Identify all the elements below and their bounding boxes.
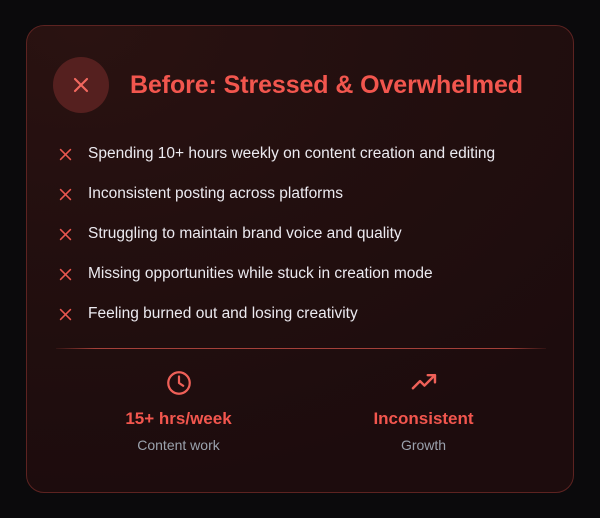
clock-icon: [165, 369, 193, 397]
stat-growth: Inconsistent Growth: [301, 369, 546, 452]
stat-value: 15+ hrs/week: [125, 410, 231, 427]
trending-up-icon: [410, 369, 438, 397]
x-mark-icon: [57, 306, 74, 323]
list-item-label: Missing opportunities while stuck in cre…: [88, 266, 433, 282]
stat-value: Inconsistent: [373, 410, 473, 427]
list-item: Inconsistent posting across platforms: [57, 174, 549, 214]
page-title: Before: Stressed & Overwhelmed: [130, 71, 523, 100]
stat-content-work: 15+ hrs/week Content work: [56, 369, 301, 452]
section-divider: [56, 348, 546, 349]
list-item-label: Struggling to maintain brand voice and q…: [88, 226, 402, 242]
stats-row: 15+ hrs/week Content work Inconsistent G…: [56, 369, 546, 452]
x-mark-icon: [57, 186, 74, 203]
stat-label: Content work: [137, 438, 219, 452]
screen-root: Before: Stressed & Overwhelmed Spending …: [0, 0, 600, 518]
card-header: Before: Stressed & Overwhelmed: [53, 54, 523, 117]
list-item: Spending 10+ hours weekly on content cre…: [57, 134, 549, 174]
list-item: Feeling burned out and losing creativity: [57, 294, 549, 334]
list-item: Missing opportunities while stuck in cre…: [57, 254, 549, 294]
list-item-label: Inconsistent posting across platforms: [88, 186, 343, 202]
x-mark-icon: [57, 266, 74, 283]
x-mark-icon: [57, 226, 74, 243]
pain-point-list: Spending 10+ hours weekly on content cre…: [57, 134, 549, 334]
list-item-label: Spending 10+ hours weekly on content cre…: [88, 146, 495, 162]
before-state-card: Before: Stressed & Overwhelmed Spending …: [26, 25, 574, 493]
x-close-icon: [53, 57, 109, 113]
stat-label: Growth: [401, 438, 446, 452]
x-mark-icon: [57, 146, 74, 163]
list-item: Struggling to maintain brand voice and q…: [57, 214, 549, 254]
list-item-label: Feeling burned out and losing creativity: [88, 306, 358, 322]
